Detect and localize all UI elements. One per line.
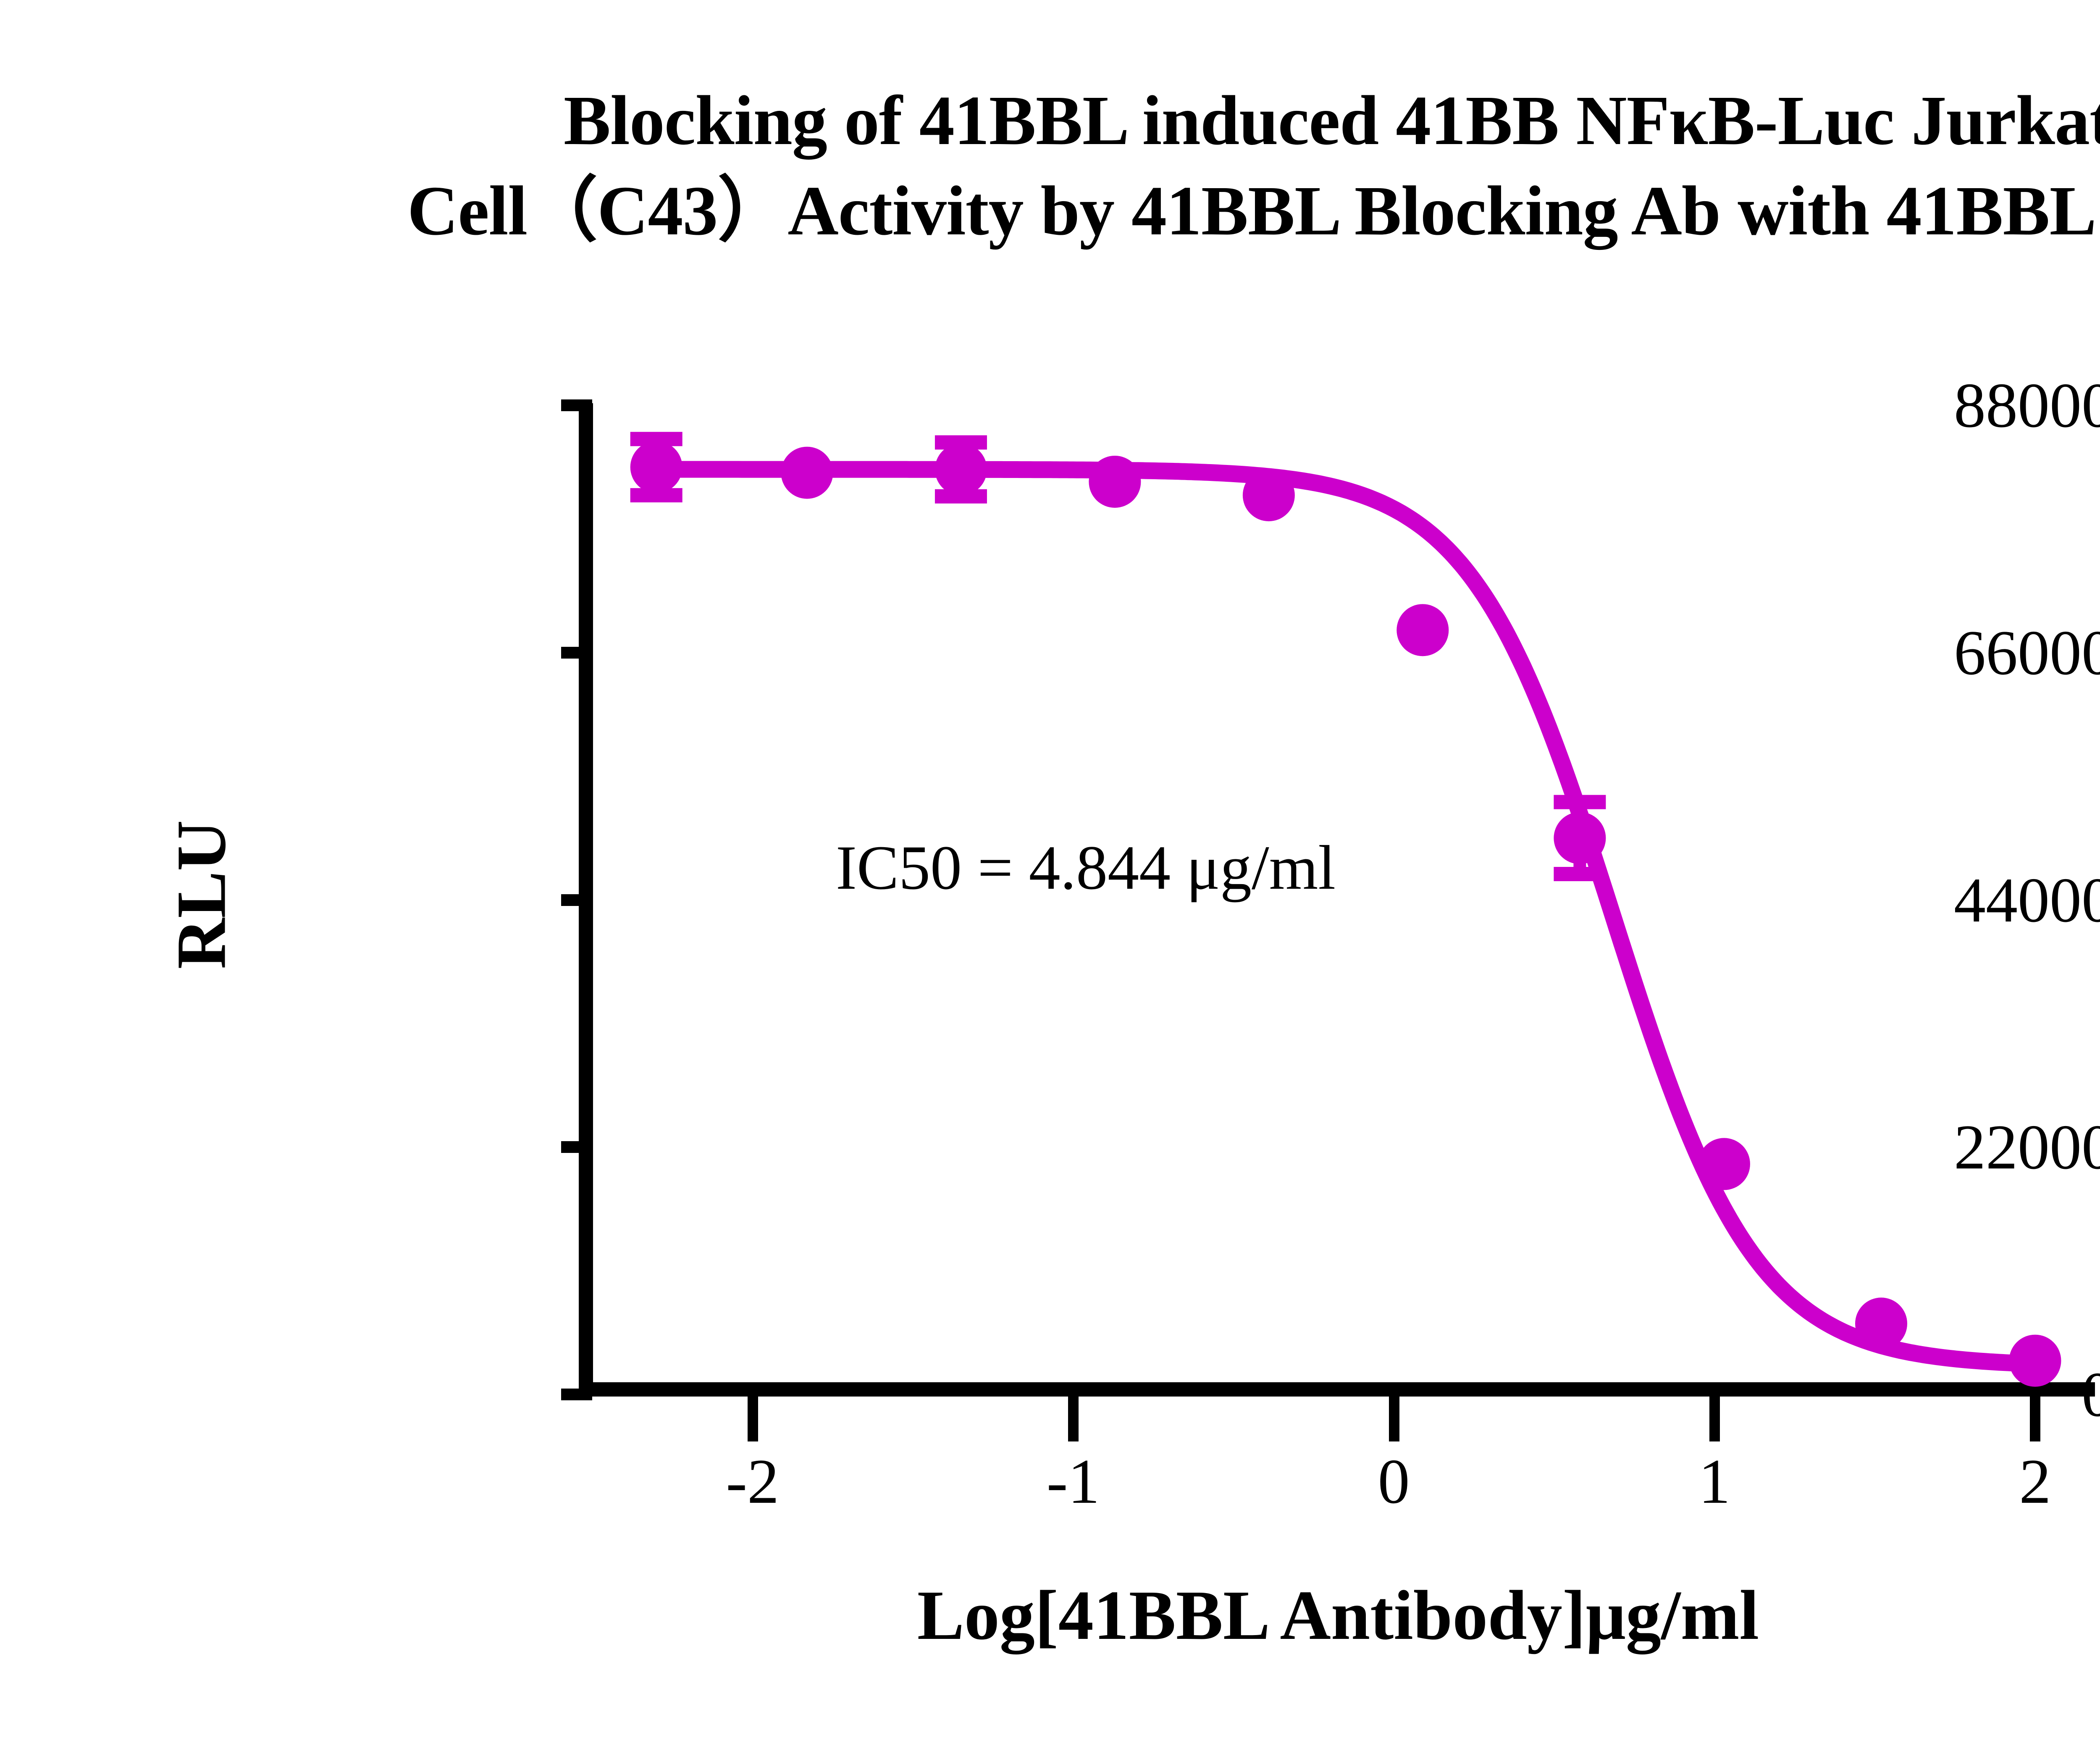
data-point-marker [2009, 1335, 2061, 1387]
data-point-marker [630, 441, 682, 493]
data-point-marker [1554, 812, 1606, 864]
data-point-marker [1855, 1297, 1907, 1349]
fit-curve [656, 470, 2035, 1364]
data-point-marker [1698, 1138, 1750, 1190]
ic50-annotation: IC50 = 4.844 μg/ml [836, 832, 1336, 904]
data-point-marker [1243, 469, 1295, 521]
plot-area [592, 405, 2083, 1394]
data-point-marker [781, 447, 833, 499]
data-point-marker [935, 444, 987, 496]
data-point-marker [1089, 456, 1141, 508]
chart-figure: Blocking of 41BBL induced 41BB NFκB-Luc … [0, 0, 2100, 1759]
data-point-marker [1396, 604, 1449, 656]
